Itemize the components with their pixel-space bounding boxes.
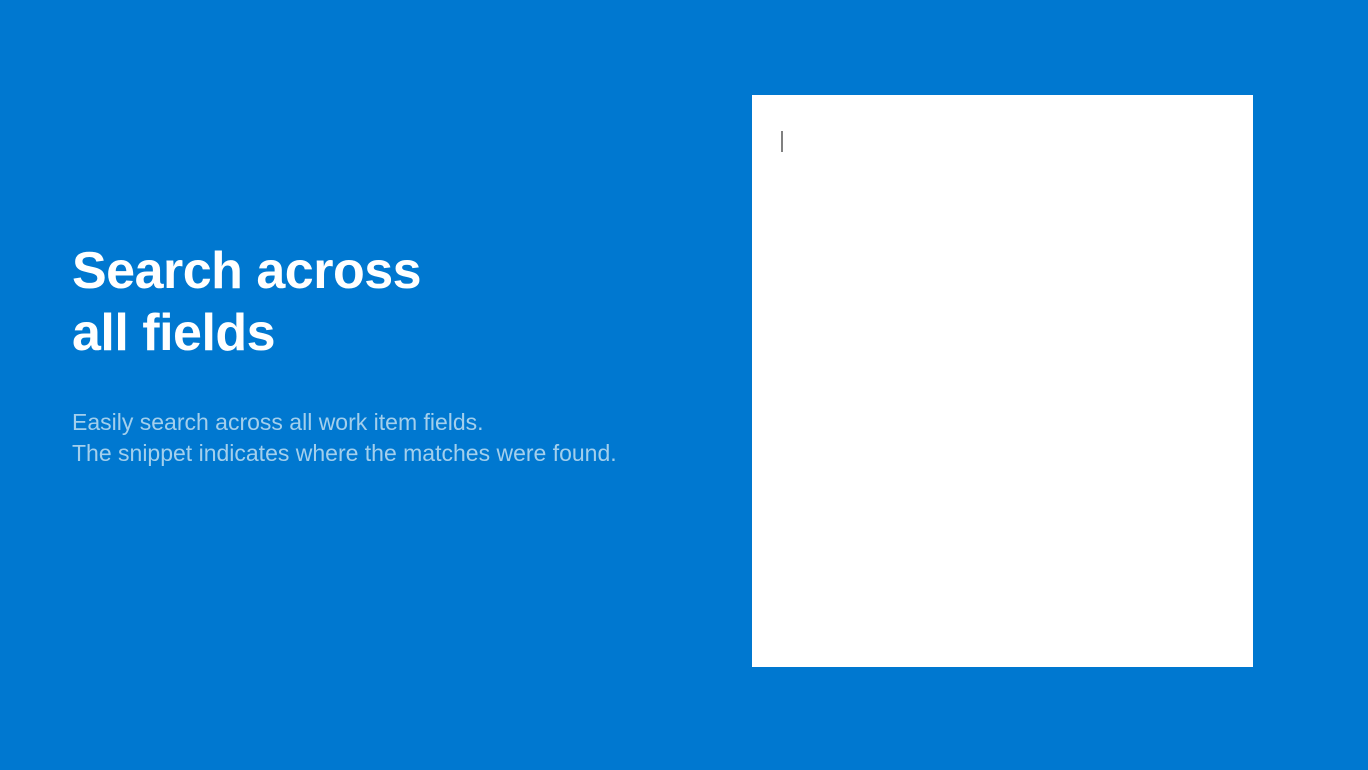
content-panel[interactable] [752, 95, 1253, 667]
text-caret-icon [781, 131, 783, 152]
presentation-slide: Search across all fields Easily search a… [0, 0, 1368, 770]
slide-subtitle: Easily search across all work item field… [72, 364, 712, 469]
slide-heading: Search across all fields [72, 240, 712, 364]
slide-text-column: Search across all fields Easily search a… [72, 240, 712, 469]
